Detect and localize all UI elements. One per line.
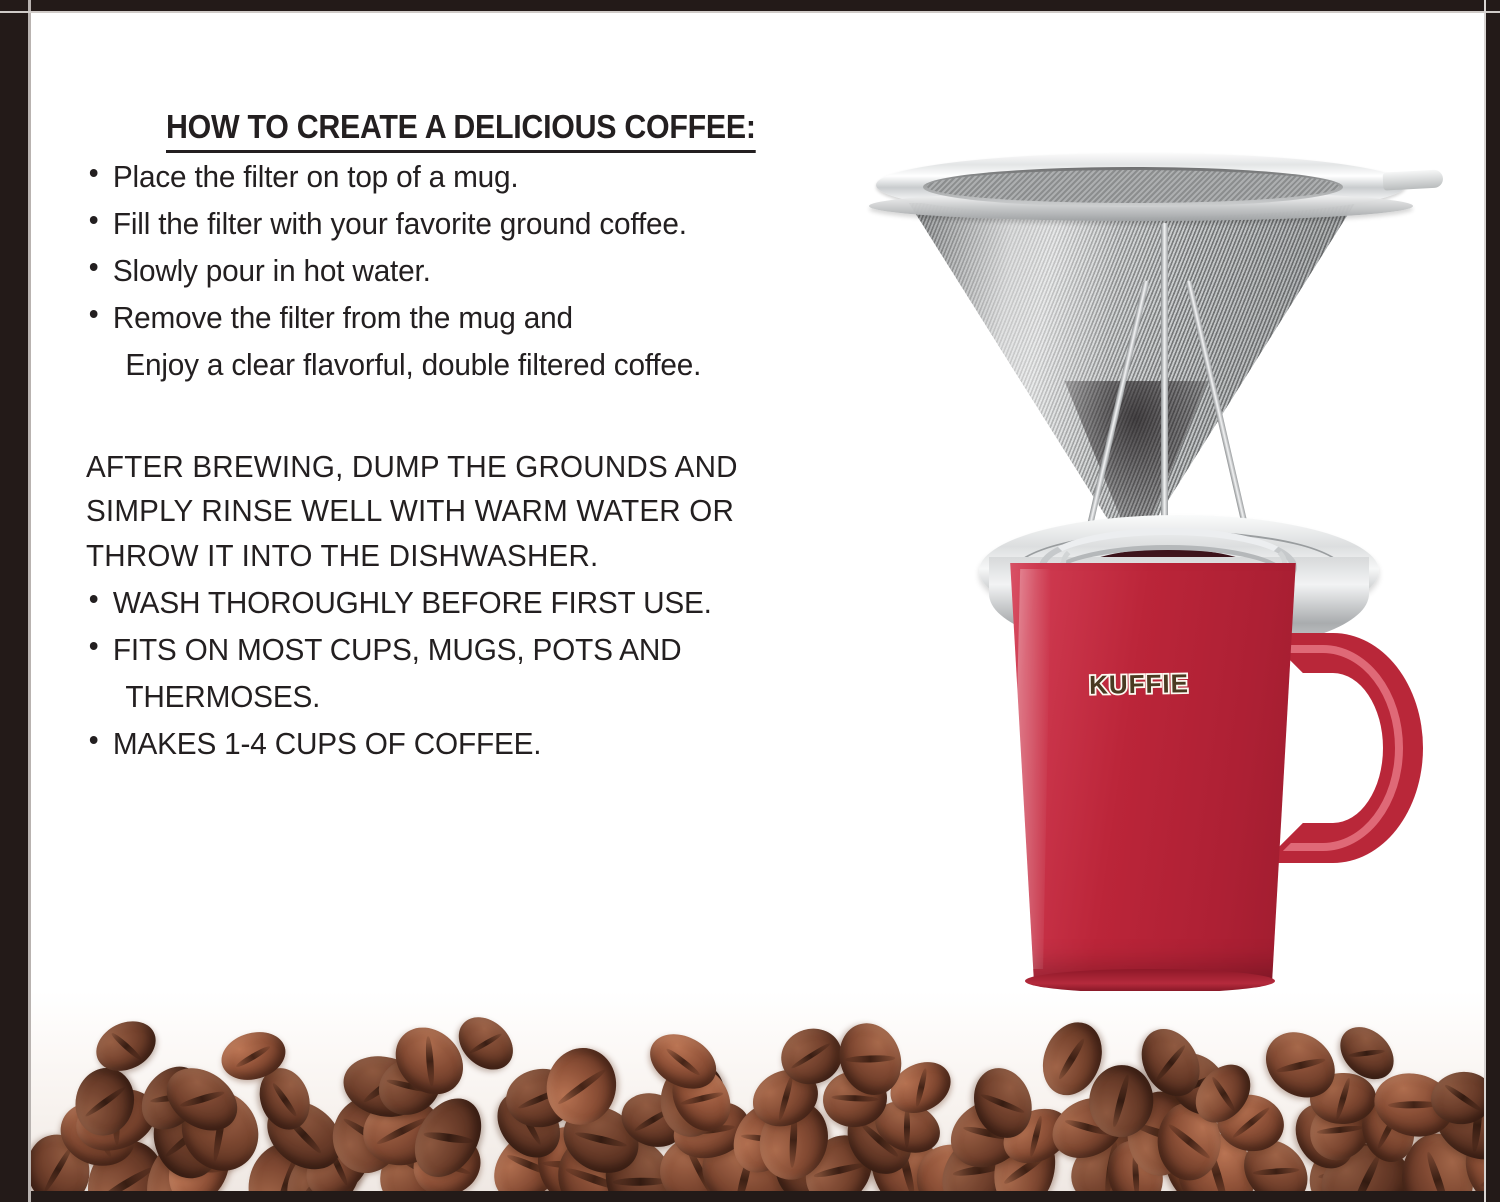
bullet-icon: [90, 263, 98, 271]
filter-mesh-top: [927, 170, 1339, 203]
bullet-icon: [90, 310, 98, 318]
page-title: HOW TO CREATE A DELICIOUS COFFEE:: [166, 108, 756, 153]
list-item: MAKES 1-4 CUPS OF COFFEE.: [86, 720, 940, 767]
bullet-icon: [90, 169, 98, 177]
step-text: Slowly pour in hot water.: [113, 253, 431, 288]
care-line: AFTER BREWING, DUMP THE GROUNDS AND: [86, 445, 949, 490]
filter-handle-tab: [1383, 169, 1444, 190]
frame-top-hairline: [0, 11, 1500, 13]
stainless-cone-filter: [861, 153, 1421, 553]
step-text: Place the filter on top of a mug.: [113, 159, 519, 194]
infographic-canvas: HOW TO CREATE A DELICIOUS COFFEE: Place …: [31, 13, 1486, 1191]
bullet-icon: [90, 642, 98, 650]
frame-left-hairline: [28, 0, 31, 1202]
feature-text: WASH THOROUGHLY BEFORE FIRST USE.: [113, 585, 712, 620]
bullet-icon: [90, 216, 98, 224]
bullet-icon: [90, 736, 98, 744]
list-item: Fill the filter with your favorite groun…: [86, 200, 940, 247]
list-item: Remove the filter from the mug and Enjoy…: [86, 294, 940, 388]
mug-base: [1025, 969, 1275, 993]
frame-right-hairline: [1484, 0, 1486, 1202]
frame-left-edge: [0, 0, 28, 1202]
product-photo: KUFFIE: [831, 133, 1471, 963]
list-item: FITS ON MOST CUPS, MUGS, POTS AND THERMO…: [86, 626, 940, 720]
care-paragraph: AFTER BREWING, DUMP THE GROUNDS AND SIMP…: [86, 445, 949, 579]
list-item: Slowly pour in hot water.: [86, 247, 940, 294]
step-text: Remove the filter from the mug and: [113, 300, 573, 335]
step-text: Fill the filter with your favorite groun…: [113, 206, 687, 241]
list-item: WASH THOROUGHLY BEFORE FIRST USE.: [86, 579, 940, 626]
feature-text-continuation: THERMOSES.: [113, 673, 941, 720]
list-item: Place the filter on top of a mug.: [86, 153, 940, 200]
frame-bottom-edge: [0, 1191, 1500, 1202]
care-line: THROW IT INTO THE DISHWASHER.: [86, 534, 949, 579]
feature-text: MAKES 1-4 CUPS OF COFFEE.: [113, 726, 541, 761]
mug-brand-logo: KUFFIE: [1049, 667, 1230, 701]
frame-top-edge: [0, 0, 1500, 11]
coffee-beans-strip: [31, 991, 1486, 1191]
feature-text: FITS ON MOST CUPS, MUGS, POTS AND: [113, 632, 682, 667]
product-infographic: HOW TO CREATE A DELICIOUS COFFEE: Place …: [0, 0, 1500, 1202]
care-line: SIMPLY RINSE WELL WITH WARM WATER OR: [86, 489, 949, 534]
frame-right-edge: [1486, 0, 1500, 1202]
step-text-continuation: Enjoy a clear flavorful, double filtered…: [113, 341, 941, 388]
bullet-icon: [90, 595, 98, 603]
